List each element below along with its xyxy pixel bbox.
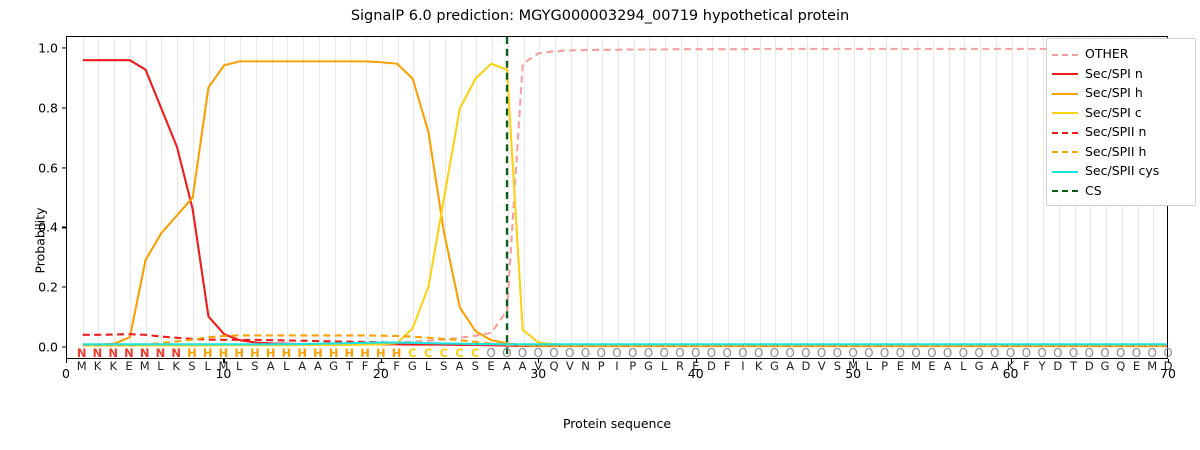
legend-label: Sec/SPI h [1085, 85, 1143, 100]
legend-swatch-icon [1052, 48, 1078, 60]
x-axis-tick-mark [1011, 359, 1012, 363]
legend[interactable]: OTHERSec/SPI nSec/SPI hSec/SPI cSec/SPII… [1046, 38, 1196, 206]
legend-swatch-icon [1052, 87, 1078, 99]
x-axis-tick-mark [853, 359, 854, 363]
legend-item-sec-spii-h[interactable]: Sec/SPII h [1052, 142, 1189, 162]
series-line-sec-spii-cys [83, 343, 1167, 345]
x-axis-tick-label: 20 [373, 366, 389, 381]
y-axis-tick-label: 0.4 [38, 220, 58, 235]
x-axis-label: Protein sequence [66, 416, 1168, 431]
series-line-other [83, 49, 1167, 345]
legend-label: OTHER [1085, 46, 1128, 61]
y-axis-tick-label: 0.8 [38, 100, 58, 115]
x-axis-tick-label: 0 [62, 366, 70, 381]
legend-item-cs[interactable]: CS [1052, 181, 1189, 201]
x-axis-tick-mark [66, 359, 67, 363]
y-axis-tick-label: 0.2 [38, 280, 58, 295]
series-line-sec-spi-n [83, 60, 1167, 346]
x-axis-tick-mark [538, 359, 539, 363]
x-axis-tick-label: 50 [845, 366, 861, 381]
legend-swatch-icon [1052, 184, 1078, 196]
legend-swatch-icon [1052, 67, 1078, 79]
legend-item-sec-spii-cys[interactable]: Sec/SPII cys [1052, 161, 1189, 181]
legend-swatch-icon [1052, 126, 1078, 138]
plot-area [66, 36, 1168, 359]
series-line-sec-spi-h [83, 61, 1167, 345]
series-layer [67, 37, 1167, 358]
x-axis-tick-mark [223, 359, 224, 363]
legend-swatch-icon [1052, 106, 1078, 118]
legend-label: Sec/SPII n [1085, 124, 1146, 139]
chart-title: SignalP 6.0 prediction: MGYG000003294_00… [0, 8, 1200, 24]
y-axis-tick-label: 0.0 [38, 340, 58, 355]
series-line-sec-spi-c [83, 64, 1167, 346]
x-axis-tick-label: 40 [688, 366, 704, 381]
x-axis-tick-label: 30 [530, 366, 546, 381]
x-axis-tick-mark [1168, 359, 1169, 363]
x-axis-tick-mark [696, 359, 697, 363]
y-axis-tick-label: 1.0 [38, 40, 58, 55]
legend-item-sec-spi-c[interactable]: Sec/SPI c [1052, 103, 1189, 123]
legend-label: Sec/SPI c [1085, 105, 1142, 120]
legend-label: Sec/SPI n [1085, 66, 1143, 81]
legend-item-other[interactable]: OTHER [1052, 44, 1189, 64]
legend-item-sec-spii-n[interactable]: Sec/SPII n [1052, 122, 1189, 142]
legend-swatch-icon [1052, 145, 1078, 157]
legend-swatch-icon [1052, 165, 1078, 177]
x-axis-tick-label: 10 [215, 366, 231, 381]
y-axis: Probability 0.00.20.40.60.81.0 [0, 36, 66, 359]
legend-label: CS [1085, 183, 1102, 198]
x-axis: 010203040506070 [66, 359, 1168, 399]
legend-item-sec-spi-n[interactable]: Sec/SPI n [1052, 64, 1189, 84]
legend-label: Sec/SPII cys [1085, 163, 1159, 178]
chart-svg [67, 37, 1167, 358]
y-axis-tick-label: 0.6 [38, 160, 58, 175]
signalp-prediction-figure: SignalP 6.0 prediction: MGYG000003294_00… [0, 0, 1200, 450]
legend-item-sec-spi-h[interactable]: Sec/SPI h [1052, 83, 1189, 103]
x-axis-tick-mark [381, 359, 382, 363]
x-axis-tick-label: 60 [1003, 366, 1019, 381]
x-axis-tick-label: 70 [1160, 366, 1176, 381]
legend-label: Sec/SPII h [1085, 144, 1146, 159]
